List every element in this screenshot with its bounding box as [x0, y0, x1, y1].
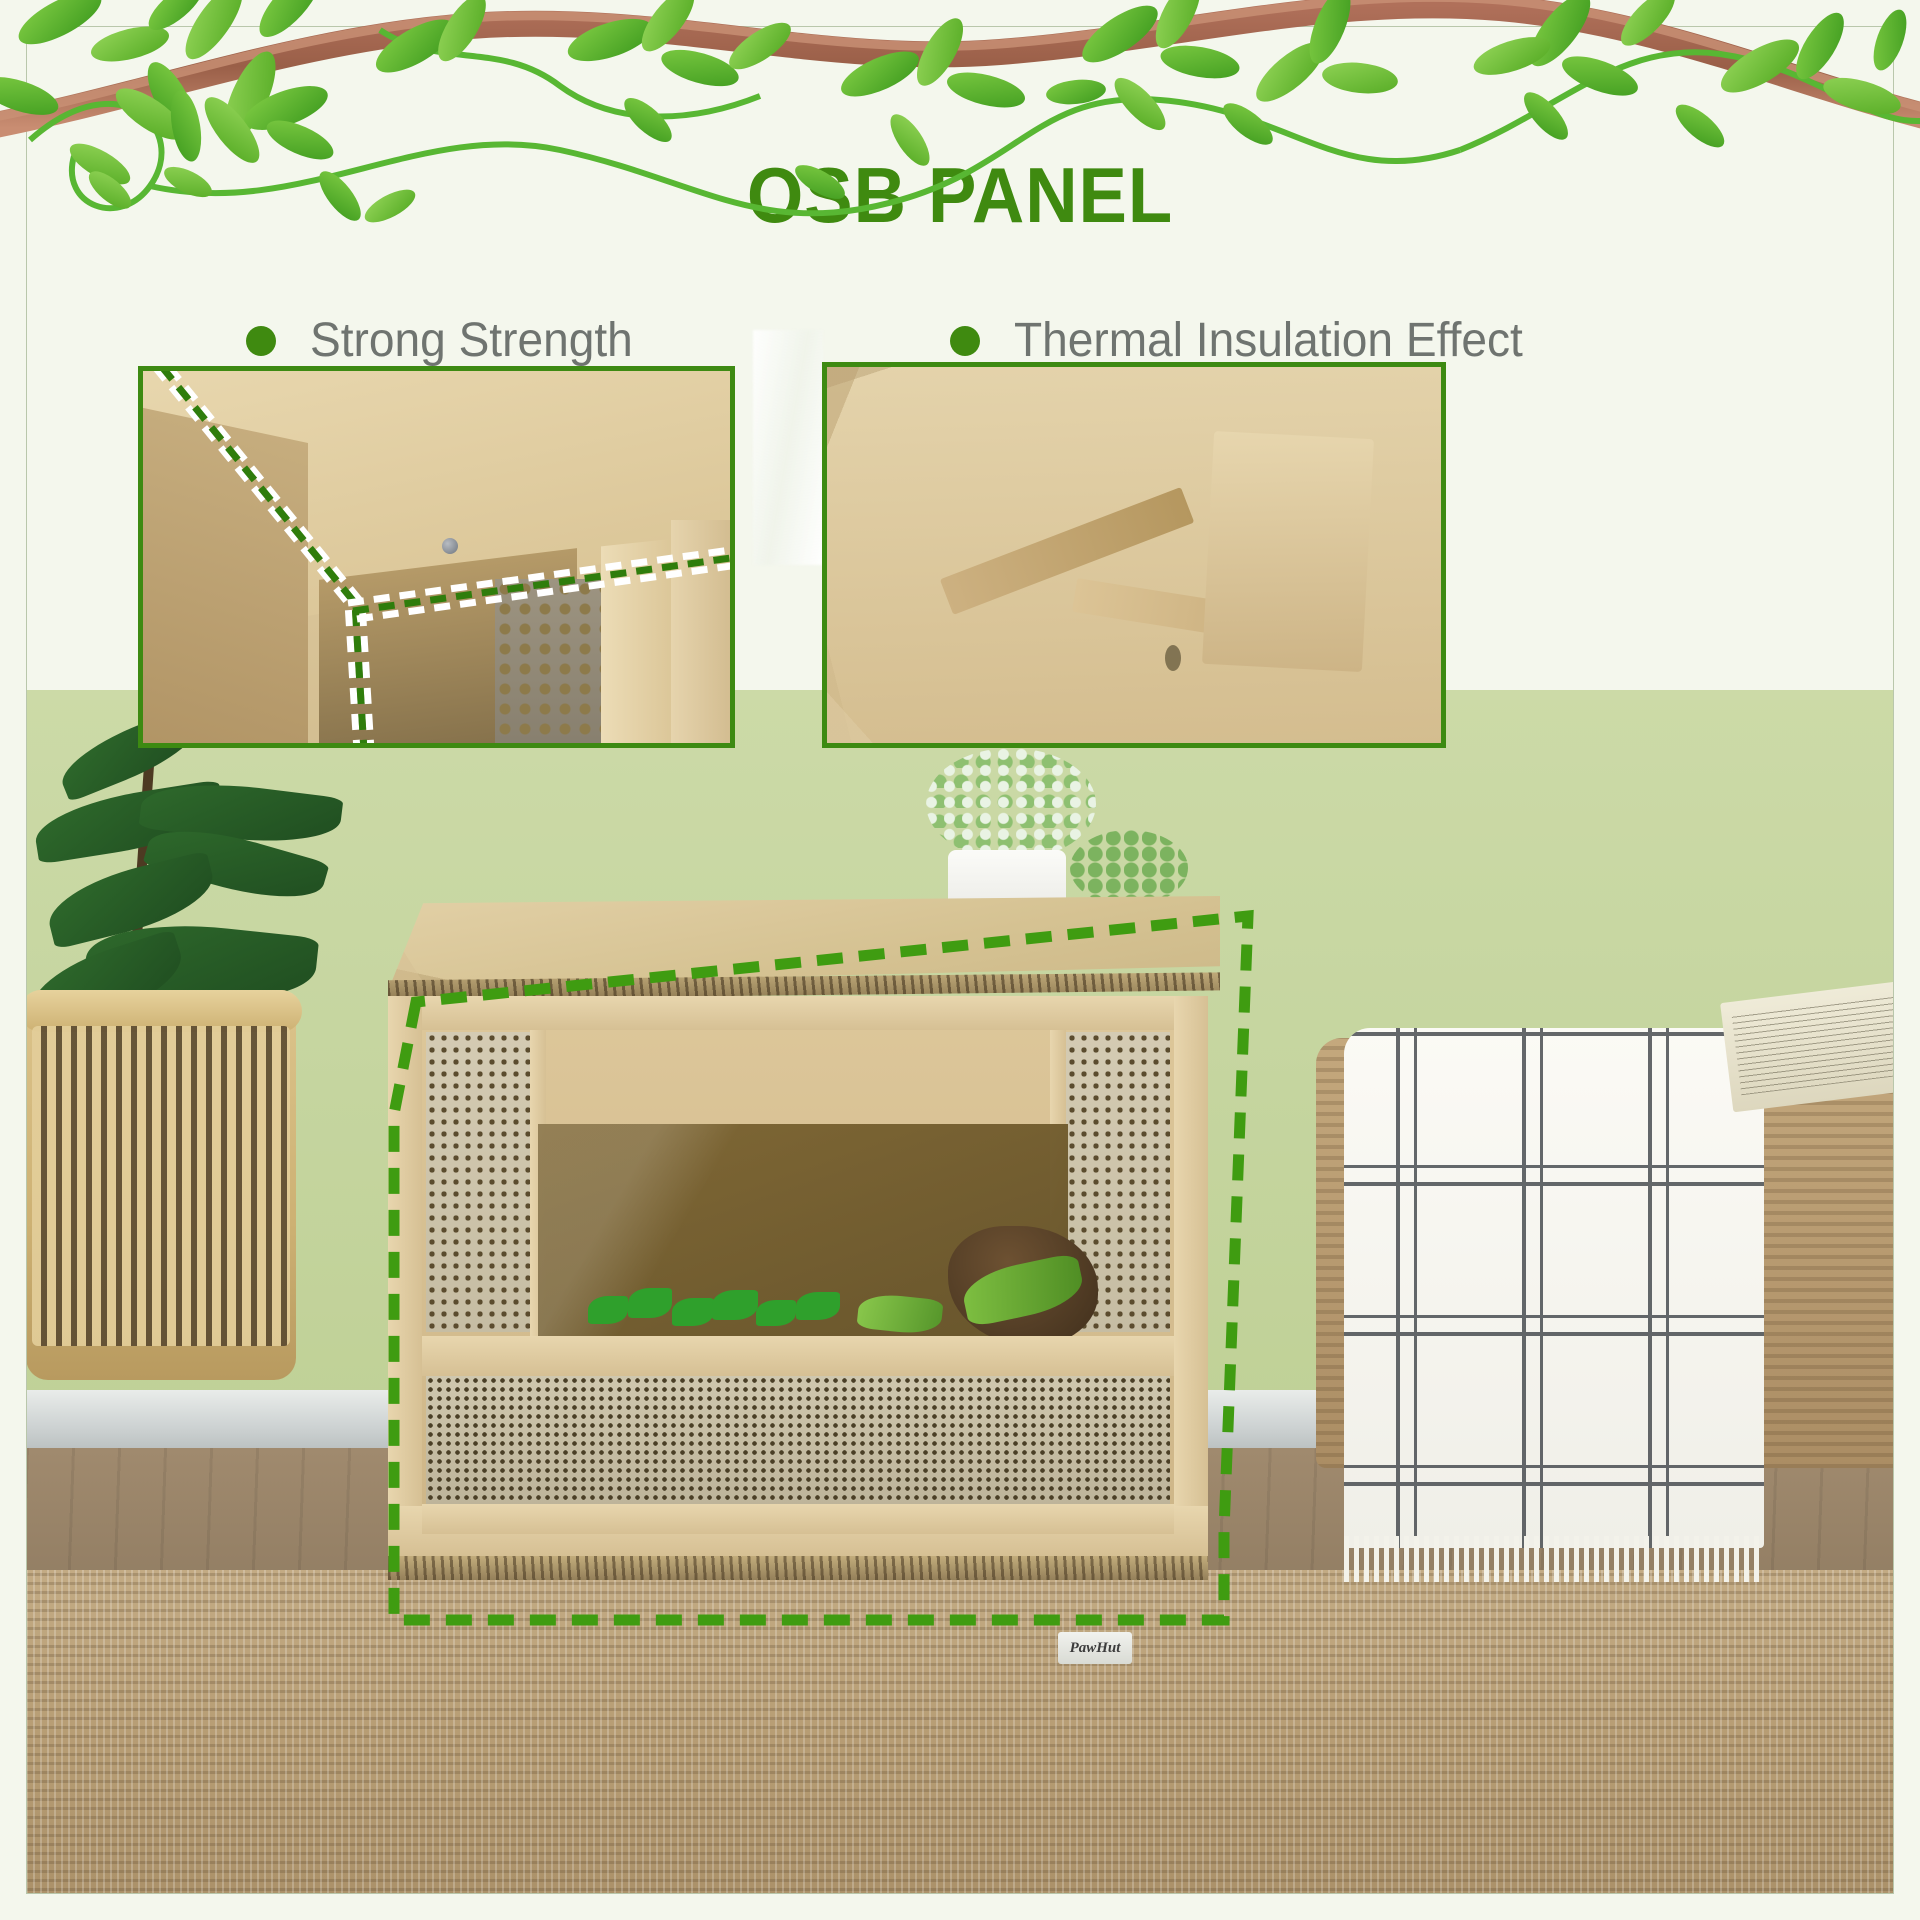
- bullet-dot-icon: [246, 326, 276, 356]
- frame-top-rail: [388, 996, 1208, 1030]
- bottom-osb-edge: [388, 1556, 1208, 1580]
- artificial-foliage: [712, 1290, 758, 1320]
- artificial-foliage: [756, 1300, 796, 1326]
- osb-knot: [1165, 645, 1181, 671]
- lower-rail: [422, 1504, 1174, 1534]
- artificial-foliage: [796, 1292, 840, 1320]
- detail-panel-corner-joint: [138, 366, 735, 748]
- product-scene: PawHut: [26, 690, 1894, 1894]
- flower-cluster: [926, 748, 1096, 860]
- blanket-fringe: [1344, 1536, 1764, 1582]
- osb-top-panel: [390, 896, 1220, 986]
- frame-right-stile: [1174, 996, 1208, 1556]
- left-mesh-vent-panel: [426, 1032, 530, 1332]
- artificial-foliage: [628, 1288, 672, 1318]
- jute-rug: [26, 1570, 1894, 1894]
- frame-left-stile: [388, 996, 422, 1556]
- small-plant-foliage: [1070, 830, 1188, 906]
- brand-logo-badge: PawHut: [1058, 1632, 1132, 1664]
- osb-strand: [1202, 431, 1374, 672]
- osb-texture: [390, 896, 1220, 986]
- feature-label: Strong Strength: [310, 313, 633, 368]
- rattan-basket: [26, 990, 296, 1380]
- vine-leaf-cluster: [1469, 0, 1683, 146]
- terrarium-body: [388, 996, 1208, 1556]
- feature-item-strong-strength: Strong Strength: [246, 313, 646, 368]
- feature-list: Strong Strength Thermal Insulation Effec…: [0, 313, 1920, 383]
- feature-item-thermal-insulation: Thermal Insulation Effect: [950, 313, 1544, 368]
- basket-rim: [26, 990, 302, 1032]
- bullet-dot-icon: [950, 326, 980, 356]
- edge-highlight-annotation: [143, 371, 730, 743]
- lower-mesh-vent-panel: [426, 1376, 1170, 1506]
- artificial-foliage: [672, 1298, 714, 1326]
- brand-name: PawHut: [1070, 1640, 1121, 1657]
- vine-decoration: [0, 0, 1920, 230]
- reptile-terrarium: [366, 896, 1226, 1606]
- plaid-throw-blanket: [1344, 1028, 1764, 1548]
- middle-rail: [422, 1336, 1174, 1376]
- artificial-foliage: [588, 1296, 628, 1324]
- detail-panel-osb-texture: [822, 362, 1446, 748]
- infographic-page: PawHut: [0, 0, 1920, 1920]
- feature-label: Thermal Insulation Effect: [1014, 313, 1523, 368]
